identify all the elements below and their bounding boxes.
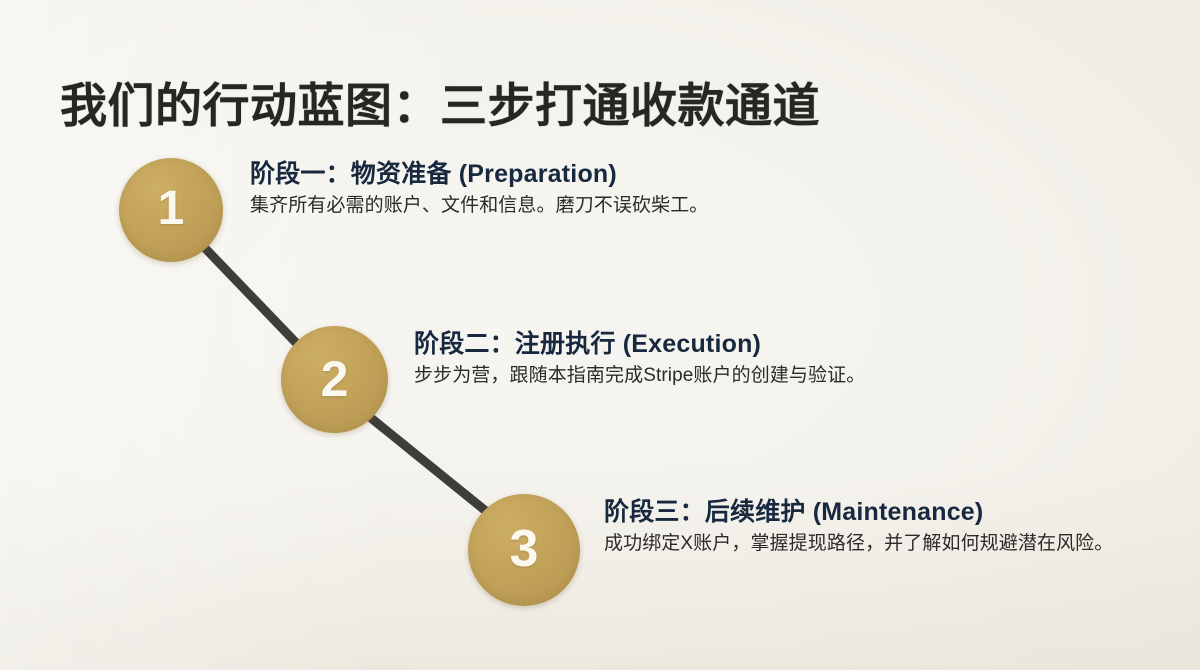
step-1-description: 集齐所有必需的账户、文件和信息。磨刀不误砍柴工。	[250, 191, 870, 221]
step-2-heading: 阶段二：注册执行 (Execution)	[414, 327, 1054, 361]
step-2-number-bubble[interactable]: 2	[281, 326, 388, 433]
step-1-heading: 阶段一：物资准备 (Preparation)	[250, 157, 870, 191]
step-3-number: 3	[510, 523, 539, 575]
step-2-number: 2	[321, 354, 349, 404]
page-title: 我们的行动蓝图：三步打通收款通道	[60, 75, 820, 137]
step-1-number: 1	[158, 185, 185, 233]
step-1-text-block: 阶段一：物资准备 (Preparation) 集齐所有必需的账户、文件和信息。磨…	[250, 157, 870, 221]
step-3-description: 成功绑定X账户，掌握提现路径，并了解如何规避潜在风险。	[604, 529, 1149, 559]
connector-line-1-to-2	[203, 246, 303, 350]
connector-line-2-to-3	[366, 414, 492, 516]
slide-canvas: 我们的行动蓝图：三步打通收款通道 1 阶段一：物资准备 (Preparation…	[0, 0, 1200, 670]
step-3-heading: 阶段三：后续维护 (Maintenance)	[604, 495, 1149, 529]
step-3-text-block: 阶段三：后续维护 (Maintenance) 成功绑定X账户，掌握提现路径，并了…	[604, 495, 1149, 559]
step-2-text-block: 阶段二：注册执行 (Execution) 步步为营，跟随本指南完成Stripe账…	[414, 327, 1054, 391]
step-2-description: 步步为营，跟随本指南完成Stripe账户的创建与验证。	[414, 361, 1054, 391]
step-3-number-bubble[interactable]: 3	[468, 494, 580, 606]
step-1-number-bubble[interactable]: 1	[119, 158, 223, 262]
